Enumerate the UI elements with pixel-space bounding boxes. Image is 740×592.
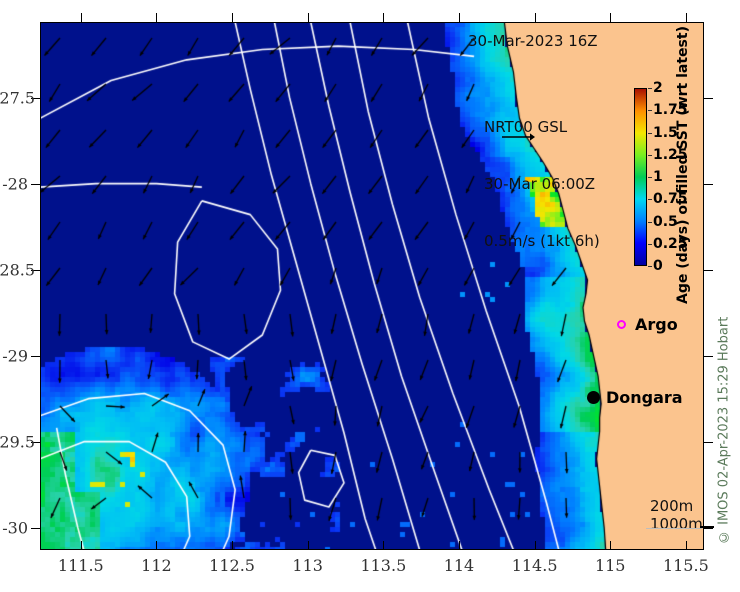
dongara-marker-group[interactable]: Dongara — [587, 388, 683, 407]
y-tick-label: -29.5 — [0, 432, 28, 451]
x-tick-label: 114 — [444, 556, 475, 575]
colorbar-tick-label: 1 — [653, 169, 663, 185]
colorbar-title: Age (days) of filled SST (wrt latest) — [672, 20, 694, 310]
colorbar-tick — [648, 177, 652, 178]
dongara-dot-icon — [587, 391, 600, 404]
x-tick — [232, 541, 233, 550]
x-tick-label: 112.5 — [209, 556, 255, 575]
x-tick-top — [535, 13, 536, 22]
x-tick-label: 113.5 — [360, 556, 406, 575]
x-tick-label: 113 — [292, 556, 323, 575]
x-tick-top — [610, 13, 611, 22]
colorbar — [634, 88, 647, 266]
colorbar-tick — [648, 244, 652, 245]
x-tick-top — [232, 13, 233, 22]
x-tick — [156, 541, 157, 550]
x-tick-label: 111.5 — [58, 556, 104, 575]
colorbar-tick-label: 0 — [653, 258, 663, 274]
x-tick — [610, 541, 611, 550]
x-tick-top — [308, 13, 309, 22]
colorbar-tick-label: 2 — [653, 80, 663, 96]
colorbar-tick — [648, 110, 652, 111]
map-plot-area[interactable] — [40, 22, 704, 550]
right-arrow-icon — [501, 131, 535, 143]
current-vector-layer — [40, 22, 704, 550]
y-tick-label: -27.5 — [0, 88, 28, 107]
timestamp-stamp: 30-Mar-2023 16Z — [468, 32, 598, 50]
scalebar-1000m-label: 1000m — [650, 515, 703, 533]
y-tick-label: -28.5 — [0, 260, 28, 279]
x-tick-label: 115 — [595, 556, 626, 575]
y-tick-right — [704, 442, 713, 443]
y-tick-right — [704, 184, 713, 185]
x-tick-top — [686, 13, 687, 22]
x-tick — [686, 541, 687, 550]
x-tick-label: 112 — [141, 556, 172, 575]
x-tick-label: 115.5 — [663, 556, 709, 575]
current-scale-label: 0.5m/s (1kt 6h) — [484, 232, 600, 251]
x-tick-label: 114.5 — [512, 556, 558, 575]
credit-text: © IMOS 02-Apr-2023 15:29 Hobart — [714, 300, 734, 560]
y-tick-label: -29 — [0, 346, 28, 365]
y-tick — [31, 528, 40, 529]
y-tick-right — [704, 98, 713, 99]
current-validtime-label: 30-Mar 06:00Z — [484, 175, 600, 194]
x-tick-top — [81, 13, 82, 22]
argo-label: Argo — [635, 315, 678, 334]
argo-marker-group[interactable]: Argo — [617, 315, 678, 334]
x-tick-top — [459, 13, 460, 22]
colorbar-tick — [648, 266, 652, 267]
x-tick — [383, 541, 384, 550]
x-tick — [459, 541, 460, 550]
colorbar-tick — [648, 199, 652, 200]
scalebar-200m-rule — [646, 528, 702, 529]
y-tick-right — [704, 356, 713, 357]
x-tick — [81, 541, 82, 550]
y-tick — [31, 356, 40, 357]
x-tick-top — [156, 13, 157, 22]
x-tick — [308, 541, 309, 550]
y-tick-right — [704, 270, 713, 271]
y-tick-label: -28 — [0, 174, 28, 193]
x-tick-top — [383, 13, 384, 22]
scalebar-200m-label: 200m — [650, 497, 703, 515]
map-figure: 30-Mar-2023 16Z NRT00 GSL 30-Mar 06:00Z … — [0, 0, 740, 592]
x-tick — [535, 541, 536, 550]
y-tick-label: -30 — [0, 518, 28, 537]
colorbar-tick — [648, 88, 652, 89]
colorbar-tick — [648, 155, 652, 156]
dongara-label: Dongara — [606, 388, 683, 407]
y-tick-right — [704, 528, 713, 529]
y-tick — [31, 184, 40, 185]
current-legend-block: NRT00 GSL 30-Mar 06:00Z 0.5m/s (1kt 6h) — [484, 80, 600, 289]
colorbar-tick — [648, 222, 652, 223]
argo-circle-icon — [617, 320, 626, 329]
colorbar-tick — [648, 133, 652, 134]
